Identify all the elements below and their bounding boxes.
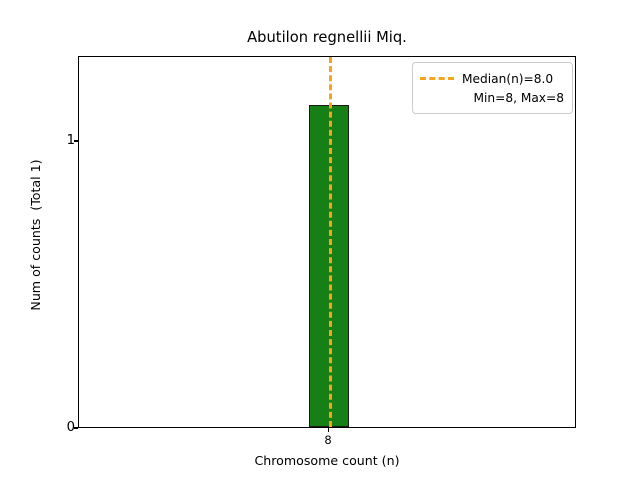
legend-entry-median: Median(n)=8.0	[420, 69, 565, 88]
legend: Median(n)=8.0 Min=8, Max=8	[412, 62, 573, 114]
dashed-line-icon	[420, 77, 454, 80]
figure-canvas: Abutilon regnellii Miq. 0 1 Num of count…	[0, 0, 640, 480]
x-tick-label-8: 8	[308, 434, 348, 446]
legend-label-median: Median(n)=8.0	[462, 72, 565, 86]
y-tick-mark-1	[74, 140, 78, 141]
blank-swatch-icon	[420, 96, 454, 99]
page-title: Abutilon regnellii Miq.	[78, 29, 576, 46]
legend-entry-minmax: Min=8, Max=8	[420, 88, 565, 107]
median-line	[329, 57, 332, 427]
y-axis-label: Num of counts (Total 1)	[29, 125, 43, 345]
y-tick-mark-0	[74, 427, 78, 428]
legend-label-minmax: Min=8, Max=8	[462, 91, 565, 105]
x-axis-label: Chromosome count (n)	[78, 454, 576, 468]
x-tick-mark-8	[328, 428, 329, 432]
